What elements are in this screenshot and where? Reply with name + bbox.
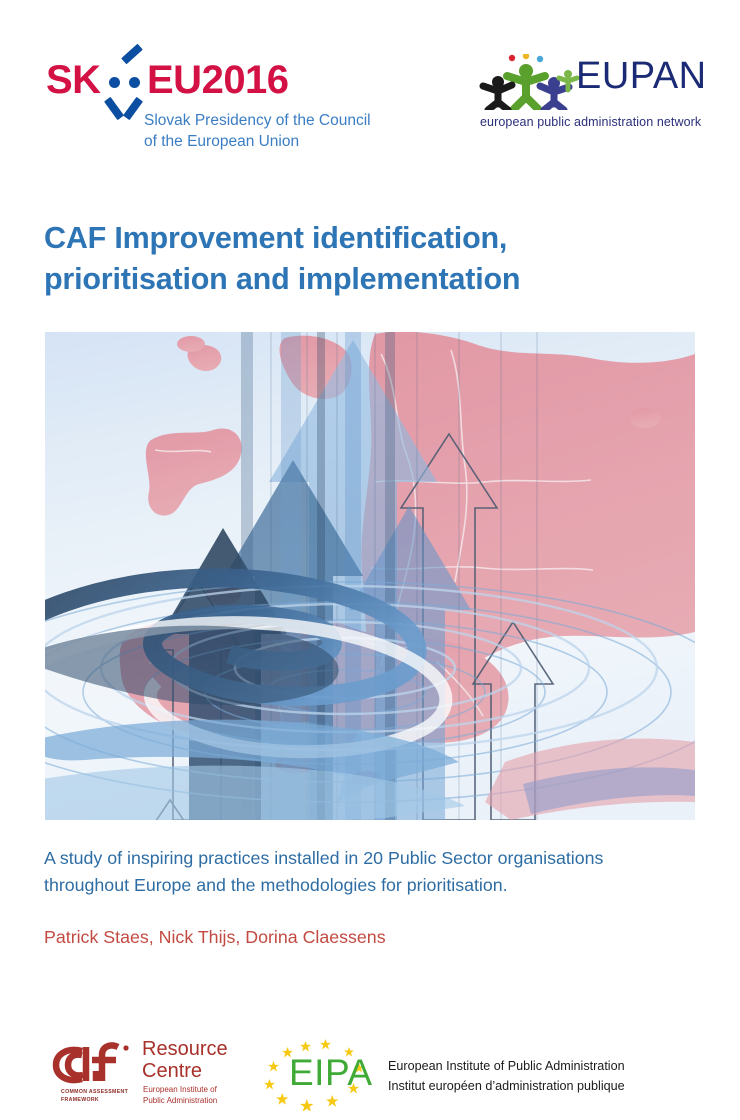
header-logo-bar: SK EU2016 Slovak Presidency of the Counc… — [0, 0, 740, 175]
sk-dot-left-icon — [109, 77, 120, 88]
footer-logo-bar: COMMON ASSESSMENT FRAMEWORK Resource Cen… — [0, 1025, 740, 1120]
document-authors: Patrick Staes, Nick Thijs, Dorina Claess… — [44, 925, 386, 950]
caf-institute-label: European Institute of Public Administrat… — [143, 1084, 217, 1107]
eupan-wordmark: EUPAN — [576, 57, 707, 95]
sk-chevron-icon — [107, 97, 143, 119]
eipa-wordmark: EIPA — [289, 1054, 373, 1091]
document-subtitle: A study of inspiring practices installed… — [44, 845, 709, 899]
eipa-institute-names: European Institute of Public Administrat… — [388, 1057, 625, 1096]
caf-framework-label: COMMON ASSESSMENT FRAMEWORK — [61, 1089, 128, 1104]
eu2016-wordmark: EU2016 — [147, 60, 289, 100]
cover-illustration — [45, 332, 695, 820]
sk-dash-icon — [121, 44, 143, 65]
slovak-presidency-logo: SK EU2016 Slovak Presidency of the Counc… — [46, 48, 391, 156]
caf-resource-centre-logo: COMMON ASSESSMENT FRAMEWORK Resource Cen… — [52, 1039, 252, 1111]
eupan-figures-icon — [476, 54, 581, 110]
sk-dot-right-icon — [129, 77, 140, 88]
slovak-presidency-mark-icon — [102, 48, 148, 126]
eupan-tagline: european public administration network — [480, 115, 701, 129]
eipa-logo: EIPA European Institute of Public Admini… — [260, 1037, 680, 1111]
cover-illustration-svg — [45, 332, 695, 820]
slovak-presidency-tagline: Slovak Presidency of the Council of the … — [144, 111, 371, 153]
eupan-logo: EUPAN european public administration net… — [470, 52, 700, 147]
caf-resource-centre-label: Resource Centre — [142, 1039, 228, 1082]
sk-wordmark: SK — [46, 60, 101, 100]
caf-wordmark-icon — [52, 1041, 134, 1087]
page-title: CAF Improvement identification, prioriti… — [44, 218, 684, 299]
